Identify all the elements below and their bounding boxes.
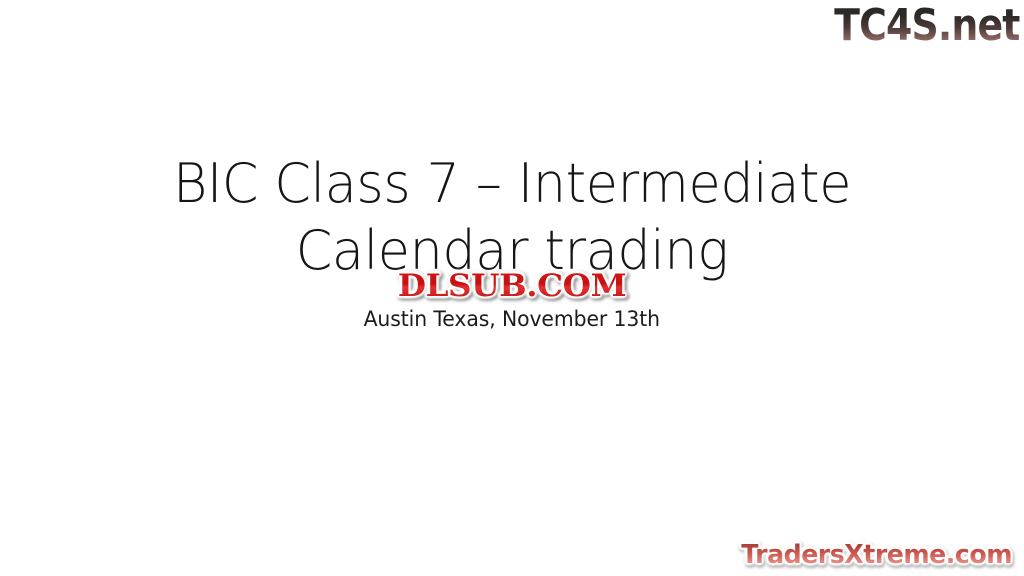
tradersxtreme-watermark-container: TradersXtreme.com (737, 541, 1016, 569)
tradersxtreme-com-watermark: TradersXtreme.com (741, 541, 1012, 569)
page-title: BIC Class 7 – Intermediate Calendar trad… (15, 150, 1008, 284)
page-subtitle: Austin Texas, November 13th (364, 306, 660, 332)
presentation-slide: TC4S.net BIC Class 7 – Intermediate Cale… (0, 0, 1024, 576)
subtitle-block: Austin Texas, November 13th (0, 306, 1024, 332)
tc4s-net-watermark: TC4S.net (835, 2, 1020, 50)
title-block: BIC Class 7 – Intermediate Calendar trad… (0, 150, 1024, 284)
